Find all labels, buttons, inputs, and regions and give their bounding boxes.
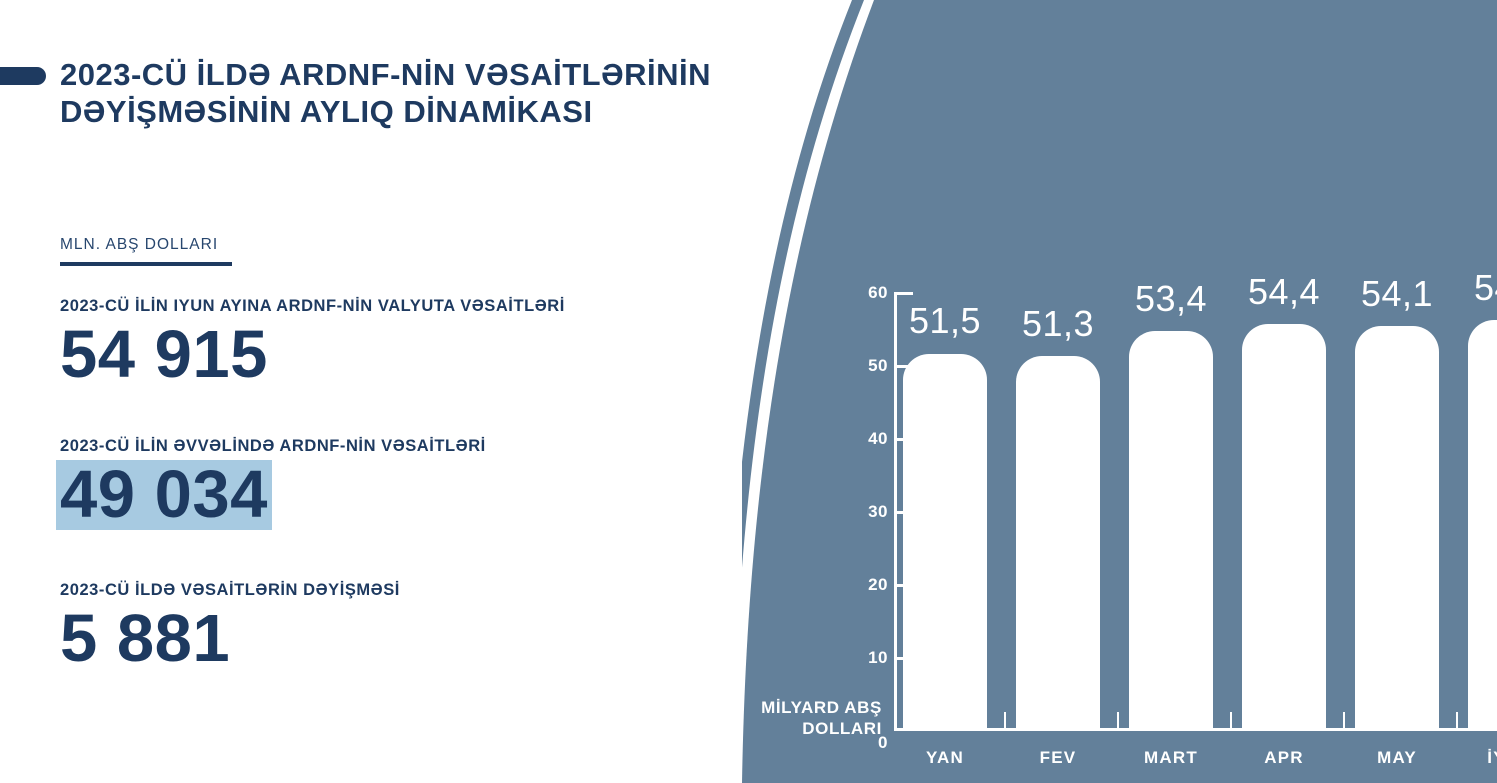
x-tick-3	[1230, 712, 1232, 729]
bar-fev	[1016, 356, 1100, 730]
title-dash-marker	[0, 67, 46, 85]
x-tick-1	[1004, 712, 1006, 729]
bar-apr	[1242, 324, 1326, 730]
stat-label: 2023-CÜ İLDƏ VƏSAİTLƏRİN DƏYİŞMƏSİ	[60, 581, 400, 600]
stat-block-year-start-assets: 2023-CÜ İLİN ƏVVƏLİNDƏ ARDNF-NİN VƏSAİTL…	[60, 437, 486, 530]
x-category-yan: YAN	[893, 748, 997, 768]
x-category-iyun: İYUN	[1458, 748, 1497, 768]
x-tick-2	[1117, 712, 1119, 729]
y-axis-label-20: 20	[844, 575, 888, 595]
stat-value: 5 881	[60, 604, 230, 674]
stat-value: 54 915	[60, 320, 268, 390]
bar-may	[1355, 326, 1439, 730]
bar-mart	[1129, 331, 1213, 730]
stat-value-highlighted: 49 034	[56, 460, 272, 530]
bar-value-may: 54,1	[1345, 273, 1449, 315]
y-axis-label-30: 30	[844, 502, 888, 522]
bar-yan	[903, 354, 987, 730]
y-axis-label-60: 60	[844, 283, 888, 303]
stat-label: 2023-CÜ İLİN ƏVVƏLİNDƏ ARDNF-NİN VƏSAİTL…	[60, 437, 486, 456]
monthly-dynamics-bar-chart: 60 50 40 30 20 10 0 MİLYARD ABŞ DOLLARI …	[742, 0, 1497, 783]
stat-label: 2023-CÜ İLİN IYUN AYINA ARDNF-NİN VALYUT…	[60, 297, 565, 316]
y-tick-60	[894, 292, 913, 295]
page-title: 2023-CÜ İLDƏ ARDNF-NİN VƏSAİTLƏRİNİN DƏY…	[60, 57, 800, 131]
unit-note-rule	[60, 262, 232, 266]
unit-note-block: MLN. ABŞ DOLLARI	[60, 236, 232, 266]
stat-block-currency-assets: 2023-CÜ İLİN IYUN AYINA ARDNF-NİN VALYUT…	[60, 297, 565, 390]
x-category-mart: MART	[1119, 748, 1223, 768]
y-axis-label-50: 50	[844, 356, 888, 376]
y-axis-tick-labels: 60 50 40 30 20 10 0	[828, 0, 888, 783]
stat-block-assets-change: 2023-CÜ İLDƏ VƏSAİTLƏRİN DƏYİŞMƏSİ 5 881	[60, 581, 400, 674]
left-text-column: 2023-CÜ İLDƏ ARDNF-NİN VƏSAİTLƏRİNİN DƏY…	[0, 0, 760, 783]
x-axis-line	[894, 728, 1497, 731]
bar-value-mart: 53,4	[1119, 278, 1223, 320]
y-axis-label-40: 40	[844, 429, 888, 449]
x-tick-5	[1456, 712, 1458, 729]
bar-value-fev: 51,3	[1006, 303, 1110, 345]
bar-value-iyun: 54,9	[1458, 267, 1497, 309]
y-axis-unit-label: MİLYARD ABŞ DOLLARI	[748, 697, 882, 740]
bar-value-yan: 51,5	[893, 300, 997, 342]
infographic-canvas: 2023-CÜ İLDƏ ARDNF-NİN VƏSAİTLƏRİNİN DƏY…	[0, 0, 1497, 783]
unit-note-label: MLN. ABŞ DOLLARI	[60, 236, 232, 254]
x-tick-4	[1343, 712, 1345, 729]
x-category-may: MAY	[1345, 748, 1449, 768]
x-category-apr: APR	[1232, 748, 1336, 768]
x-category-fev: FEV	[1006, 748, 1110, 768]
bar-iyun	[1468, 320, 1497, 730]
y-axis-label-10: 10	[844, 648, 888, 668]
bar-value-apr: 54,4	[1232, 271, 1336, 313]
